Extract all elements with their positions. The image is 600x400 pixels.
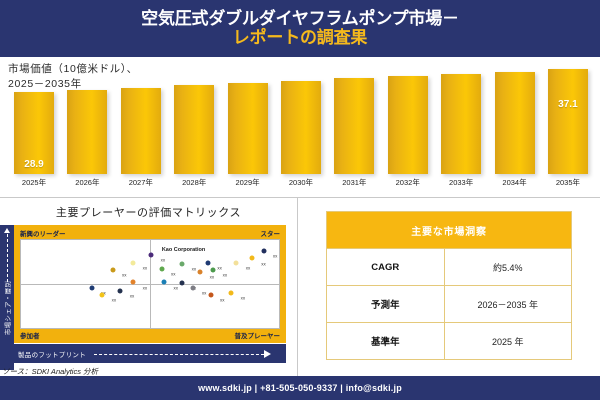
bar	[281, 81, 321, 174]
x-axis-tick-label: 2027年	[119, 177, 163, 188]
quadrant-label-emerging-leaders: 新興のリーダー	[20, 228, 66, 238]
bar-slot	[439, 69, 483, 174]
insight-table-row: 予測年2026－2035 年	[327, 286, 572, 323]
x-axis-tick-label: 2025年	[12, 177, 56, 188]
y-axis-arrow-icon	[4, 228, 10, 233]
matrix-data-point-label: xx	[192, 267, 197, 272]
matrix-data-point-label: xx	[223, 273, 228, 278]
bar	[228, 83, 268, 174]
matrix-data-point-label: xx	[273, 253, 278, 258]
bar-slot	[493, 69, 537, 174]
bar-slot	[279, 69, 323, 174]
matrix-x-axis-label: 製品のフットプリント	[18, 349, 86, 359]
quadrant-label-star: スター	[261, 228, 281, 238]
bar-slot	[386, 69, 430, 174]
key-market-insights-table: 主要な市場洞察CAGR約5.4%予測年2026－2035 年基準年2025 年	[326, 211, 572, 360]
matrix-data-point-label: xx	[220, 297, 225, 302]
bar	[121, 88, 161, 174]
matrix-data-point	[118, 289, 123, 294]
matrix-data-point	[198, 269, 203, 274]
bar	[388, 76, 428, 174]
insight-row-key: CAGR	[327, 249, 445, 286]
matrix-data-point	[89, 285, 94, 290]
bar-slot: 37.1	[546, 69, 590, 174]
matrix-data-point	[100, 292, 105, 297]
bar	[174, 85, 214, 174]
key-market-insights-panel: 主要な市場洞察CAGR約5.4%予測年2026－2035 年基準年2025 年	[298, 198, 600, 376]
matrix-data-point-label: xx	[246, 266, 251, 271]
matrix-data-point	[180, 261, 185, 266]
insight-table-row: 基準年2025 年	[327, 323, 572, 360]
matrix-data-point-label: xx	[174, 285, 179, 290]
report-header-banner: 空気圧式ダブルダイヤフラムポンプ市場－ レポートの調査果	[0, 0, 600, 57]
bar-slot	[172, 69, 216, 174]
quadrant-label-participants: 参加者	[20, 330, 40, 340]
insight-row-key: 予測年	[327, 286, 445, 323]
matrix-data-point	[211, 267, 216, 272]
matrix-data-point-label: xx	[130, 294, 135, 299]
matrix-highlight-company-label: Kao Corporation	[162, 247, 205, 253]
bar-slot	[226, 69, 270, 174]
matrix-data-point	[229, 290, 234, 295]
bar: 37.1	[548, 69, 588, 174]
matrix-quadrant-frame: 新興のリーダー スター 参加者 普及プレーヤー Kao Corporation …	[14, 225, 286, 343]
bar-slot	[65, 69, 109, 174]
footer-contact-text: www.sdki.jp | +81-505-050-9337 | info@sd…	[198, 383, 402, 393]
bar	[441, 74, 481, 174]
x-axis-tick-label: 2032年	[386, 177, 430, 188]
matrix-data-point	[159, 267, 164, 272]
matrix-panel-title: 主要プレーヤーの評価マトリックス	[0, 204, 297, 220]
matrix-data-point-label: xx	[202, 290, 207, 295]
matrix-data-point	[249, 256, 254, 261]
bar-slot	[332, 69, 376, 174]
insight-table-header: 主要な市場洞察	[327, 212, 572, 249]
x-axis-tick-label: 2031年	[332, 177, 376, 188]
bar	[67, 90, 107, 174]
x-axis-dashed-line	[94, 354, 264, 355]
matrix-center-horizontal-line	[21, 284, 279, 285]
quadrant-label-pervasive-players: 普及プレーヤー	[235, 330, 281, 340]
matrix-data-point	[234, 260, 239, 265]
bar-series-container: 28.937.1	[12, 69, 590, 174]
x-axis-tick-label: 2035年	[546, 177, 590, 188]
matrix-data-point-label: xx	[217, 266, 222, 271]
contact-footer-bar: www.sdki.jp | +81-505-050-9337 | info@sd…	[0, 376, 600, 400]
bar	[334, 78, 374, 174]
matrix-data-point-label: xx	[143, 285, 148, 290]
matrix-data-point-label: xx	[241, 296, 246, 301]
matrix-data-point	[261, 248, 266, 253]
matrix-data-point-label: xx	[143, 266, 148, 271]
matrix-data-point	[190, 285, 195, 290]
x-axis-tick-label: 2030年	[279, 177, 323, 188]
matrix-data-point	[162, 280, 167, 285]
matrix-y-axis-label: 市場シェア・層別	[2, 273, 12, 343]
bar-value-label: 37.1	[548, 99, 588, 110]
matrix-plot-area: Kao Corporation xxxxxxxxxxxxxxxxxxxxxxxx…	[20, 239, 280, 329]
matrix-data-point	[131, 260, 136, 265]
matrix-data-point	[206, 260, 211, 265]
x-axis-arrow-icon	[264, 350, 271, 358]
x-axis-tick-label: 2026年	[65, 177, 109, 188]
matrix-data-point	[149, 252, 154, 257]
matrix-x-axis-bar: 製品のフットプリント	[0, 344, 286, 363]
matrix-data-point-label: xx	[122, 273, 127, 278]
matrix-data-point-label: xx	[161, 258, 166, 263]
matrix-data-point-label: xx	[171, 272, 176, 277]
insight-row-value: 2025 年	[444, 323, 571, 360]
x-axis-tick-label: 2033年	[439, 177, 483, 188]
report-title-line-2: レポートの調査果	[233, 28, 367, 48]
matrix-data-point-label: xx	[112, 297, 117, 302]
x-axis-tick-label: 2028年	[172, 177, 216, 188]
bar	[495, 72, 535, 175]
insight-row-value: 約5.4%	[444, 249, 571, 286]
matrix-data-point-label: xx	[210, 274, 215, 279]
bar-slot: 28.9	[12, 69, 56, 174]
player-evaluation-matrix-panel: 主要プレーヤーの評価マトリックス 市場シェア・層別 新興のリーダー スター 参加…	[0, 198, 297, 376]
insight-row-key: 基準年	[327, 323, 445, 360]
bar-value-label: 28.9	[14, 159, 54, 170]
bar-slot	[119, 69, 163, 174]
x-axis-tick-label: 2034年	[493, 177, 537, 188]
matrix-data-point	[131, 280, 136, 285]
matrix-data-point	[208, 292, 213, 297]
matrix-data-point	[180, 281, 185, 286]
market-value-bar-chart: 市場価値（10億米ドル）、 2025－2035年 28.937.1 2025年2…	[0, 57, 600, 197]
bar: 28.9	[14, 92, 54, 174]
insight-table-row: CAGR約5.4%	[327, 249, 572, 286]
x-axis-tick-label: 2029年	[226, 177, 270, 188]
insight-header-row: 主要な市場洞察	[327, 212, 572, 249]
matrix-data-point	[110, 267, 115, 272]
report-title-line-1: 空気圧式ダブルダイヤフラムポンプ市場－	[141, 10, 459, 28]
chart-x-axis-labels: 2025年2026年2027年2028年2029年2030年2031年2032年…	[12, 177, 590, 195]
insight-row-value: 2026－2035 年	[444, 286, 571, 323]
matrix-data-point-label: xx	[261, 261, 266, 266]
